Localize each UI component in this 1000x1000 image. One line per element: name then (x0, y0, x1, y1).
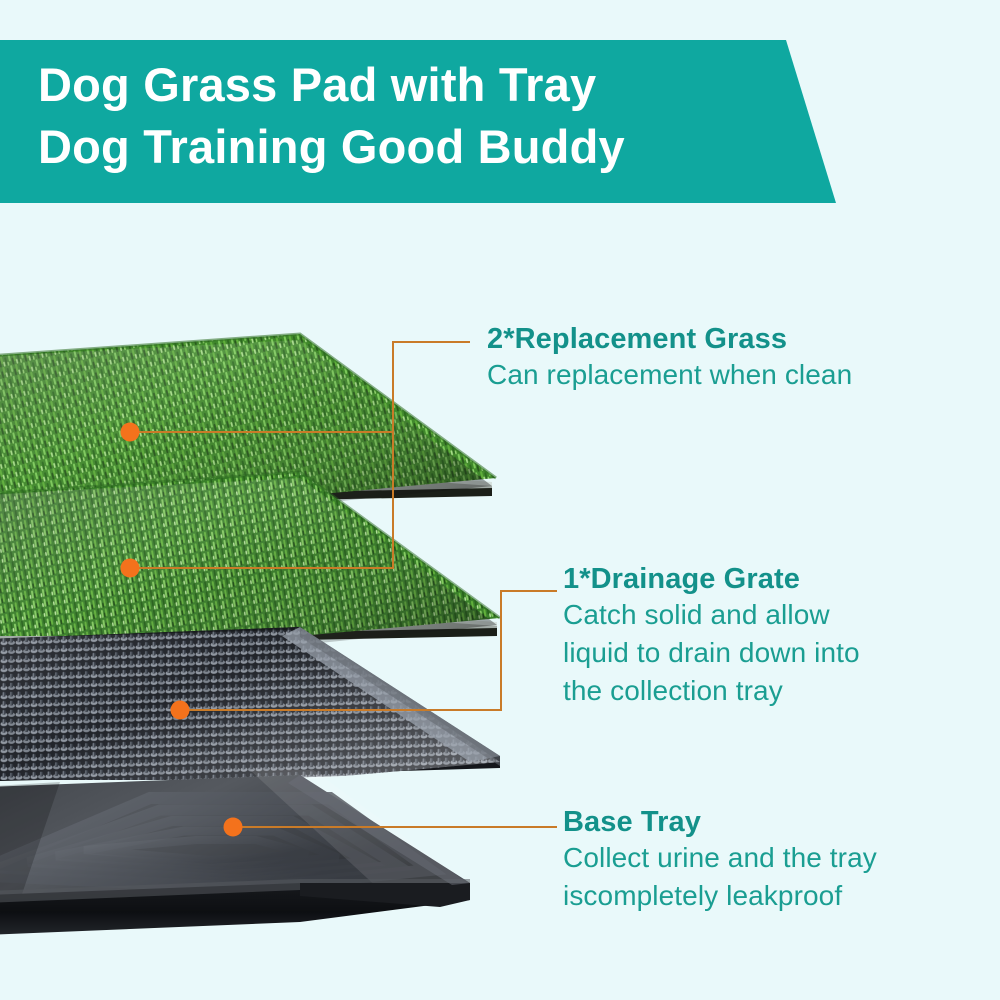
header-title-line1: Dog Grass Pad with Tray (38, 54, 798, 116)
header-banner: Dog Grass Pad with Tray Dog Training Goo… (0, 40, 860, 203)
header-title-line2: Dog Training Good Buddy (38, 116, 798, 178)
callout-body-replacement-grass: Can replacement when clean (487, 356, 852, 394)
callout-body-line: Catch solid and allow (563, 596, 860, 634)
callout-body-line: the collection tray (563, 672, 860, 710)
callout-body-line: liquid to drain down into (563, 634, 860, 672)
callout-body-line: Collect urine and the tray (563, 839, 877, 877)
callout-body-line: iscompletely leakproof (563, 877, 877, 915)
callout-title-replacement-grass: 2*Replacement Grass (487, 322, 852, 356)
infographic-canvas: Dog Grass Pad with Tray Dog Training Goo… (0, 0, 1000, 1000)
product-exploded-view (0, 300, 560, 940)
callout-base-tray: Base Tray Collect urine and the tray isc… (563, 805, 877, 915)
callout-body-base-tray: Collect urine and the tray iscompletely … (563, 839, 877, 915)
header-title: Dog Grass Pad with Tray Dog Training Goo… (38, 54, 798, 178)
callout-title-drainage-grate: 1*Drainage Grate (563, 562, 860, 596)
callout-body-line: Can replacement when clean (487, 356, 852, 394)
callout-drainage-grate: 1*Drainage Grate Catch solid and allow l… (563, 562, 860, 710)
callout-body-drainage-grate: Catch solid and allow liquid to drain do… (563, 596, 860, 710)
layer-base-tray (0, 770, 470, 936)
callout-replacement-grass: 2*Replacement Grass Can replacement when… (487, 322, 852, 394)
callout-title-base-tray: Base Tray (563, 805, 877, 839)
